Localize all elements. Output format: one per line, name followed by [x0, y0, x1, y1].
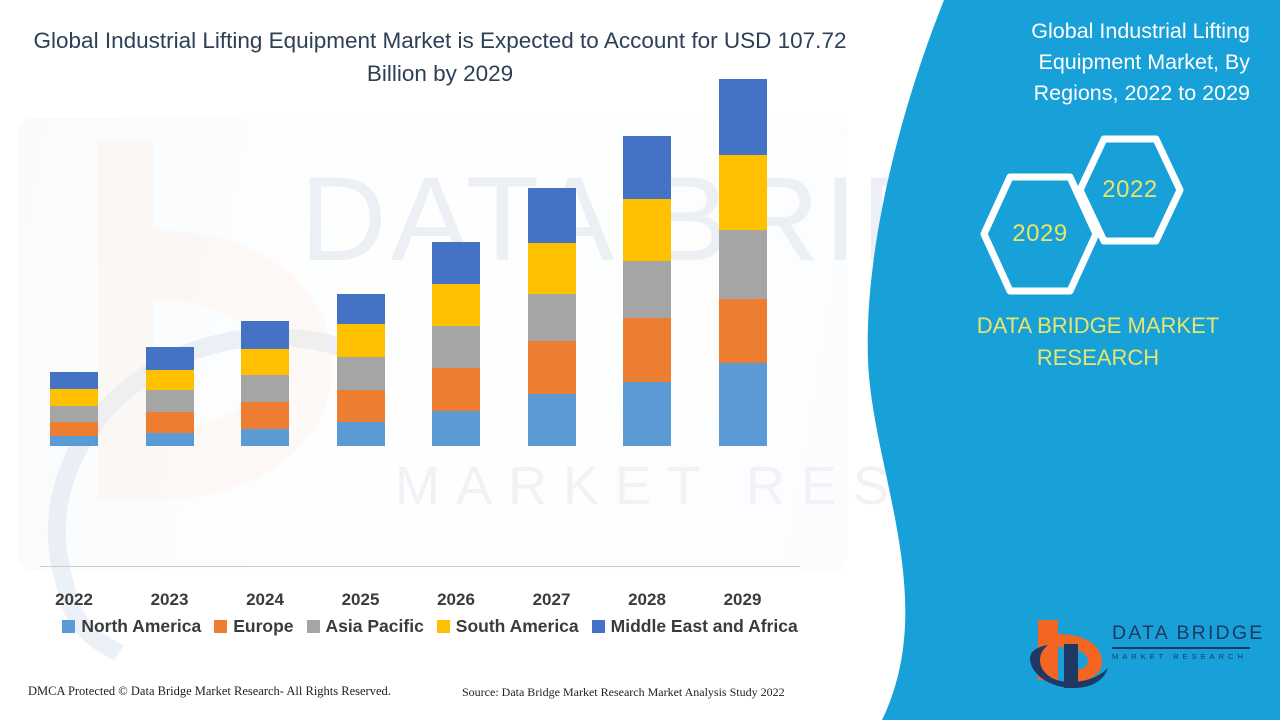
x-axis-label-2025: 2025 — [316, 590, 406, 610]
legend-item[interactable]: North America — [62, 616, 201, 637]
x-axis-label-2027: 2027 — [507, 590, 597, 610]
bar-segment — [623, 199, 671, 261]
brand-panel: Global Industrial Lifting Equipment Mark… — [860, 0, 1280, 720]
hexagon-2022: 2022 — [1076, 135, 1184, 245]
x-axis-label-2024: 2024 — [220, 590, 310, 610]
bar-segment — [623, 261, 671, 318]
logo-divider — [1112, 647, 1250, 649]
logo-subtitle: MARKET RESEARCH — [1112, 652, 1252, 661]
bar-segment — [241, 402, 289, 429]
bar-group-2023 — [146, 347, 194, 446]
bar-group-2024 — [241, 321, 289, 446]
bar-segment — [432, 326, 480, 368]
hexagon-2029-label: 2029 — [1012, 220, 1067, 248]
bar-segment — [337, 422, 385, 446]
x-axis-label-2022: 2022 — [29, 590, 119, 610]
bar-segment — [719, 155, 767, 230]
bar-segment — [623, 382, 671, 446]
bar-segment — [50, 406, 98, 422]
x-axis-label-2023: 2023 — [125, 590, 215, 610]
bar-segment — [719, 363, 767, 446]
bar-segment — [146, 433, 194, 446]
legend-label: Asia Pacific — [326, 616, 424, 637]
logo-mark-icon — [1024, 614, 1110, 692]
chart-legend: North AmericaEuropeAsia PacificSouth Ame… — [0, 616, 860, 637]
legend-label: Middle East and Africa — [611, 616, 798, 637]
bar-segment — [337, 294, 385, 324]
bar-segment — [146, 390, 194, 412]
bar-group-2022 — [50, 372, 98, 446]
bar-segment — [241, 321, 289, 349]
data-bridge-logo: DATA BRIDGE MARKET RESEARCH — [1024, 614, 1252, 692]
bar-segment — [337, 390, 385, 422]
bar-group-2026 — [432, 242, 480, 446]
legend-item[interactable]: South America — [437, 616, 579, 637]
x-axis-label-2029: 2029 — [698, 590, 788, 610]
stacked-bar — [50, 372, 98, 446]
bar-segment — [241, 349, 289, 375]
legend-swatch-icon — [437, 620, 450, 633]
legend-label: North America — [81, 616, 201, 637]
stacked-bar — [528, 188, 576, 446]
bar-group-2025 — [337, 294, 385, 446]
legend-label: Europe — [233, 616, 293, 637]
source-note: Source: Data Bridge Market Research Mark… — [462, 685, 785, 700]
bar-group-2028 — [623, 136, 671, 446]
bar-segment — [50, 372, 98, 389]
logo-title: DATA BRIDGE — [1112, 622, 1252, 645]
legend-swatch-icon — [592, 620, 605, 633]
dmca-notice: DMCA Protected © Data Bridge Market Rese… — [28, 684, 391, 699]
bar-segment — [623, 318, 671, 382]
brand-panel-title: Global Industrial Lifting Equipment Mark… — [960, 16, 1250, 109]
bar-segment — [719, 299, 767, 363]
footer: DMCA Protected © Data Bridge Market Rese… — [0, 684, 880, 714]
legend-swatch-icon — [307, 620, 320, 633]
stacked-bar — [623, 136, 671, 446]
hexagon-2022-label: 2022 — [1102, 176, 1157, 204]
bar-group-2029 — [719, 79, 767, 446]
bar-segment — [719, 230, 767, 299]
bar-segment — [528, 188, 576, 243]
plot-area: 20222023202420252026202720282029 — [0, 0, 900, 600]
bar-segment — [337, 324, 385, 357]
x-axis-label-2026: 2026 — [411, 590, 501, 610]
bar-segment — [241, 375, 289, 402]
bar-segment — [432, 368, 480, 411]
bar-segment — [528, 243, 576, 294]
bar-segment — [50, 422, 98, 436]
bar-segment — [623, 136, 671, 199]
chart-panel: DATA BRIDGE MARKET RESEARCH Global Indus… — [0, 0, 960, 720]
bar-segment — [146, 347, 194, 370]
bar-segment — [719, 79, 767, 155]
bar-segment — [337, 357, 385, 390]
bar-segment — [432, 411, 480, 446]
bar-segment — [146, 370, 194, 390]
legend-swatch-icon — [62, 620, 75, 633]
legend-swatch-icon — [214, 620, 227, 633]
stacked-bar — [432, 242, 480, 446]
bar-segment — [146, 412, 194, 433]
bar-segment — [528, 394, 576, 446]
legend-item[interactable]: Europe — [214, 616, 293, 637]
stacked-bar — [241, 321, 289, 446]
legend-item[interactable]: Middle East and Africa — [592, 616, 798, 637]
hexagon-group: 2029 2022 — [980, 135, 1200, 295]
bar-segment — [432, 242, 480, 284]
bar-segment — [528, 341, 576, 394]
stacked-bar — [146, 347, 194, 446]
legend-item[interactable]: Asia Pacific — [307, 616, 424, 637]
stacked-bar — [719, 79, 767, 446]
bar-segment — [50, 389, 98, 406]
bar-segment — [50, 436, 98, 446]
bar-segment — [432, 284, 480, 326]
stacked-bar — [337, 294, 385, 446]
x-axis-label-2028: 2028 — [602, 590, 692, 610]
legend-label: South America — [456, 616, 579, 637]
bar-segment — [241, 429, 289, 446]
bar-segment — [528, 294, 576, 341]
x-axis-line — [40, 566, 800, 567]
bar-group-2027 — [528, 188, 576, 446]
brand-name: DATA BRIDGE MARKET RESEARCH — [948, 310, 1248, 374]
